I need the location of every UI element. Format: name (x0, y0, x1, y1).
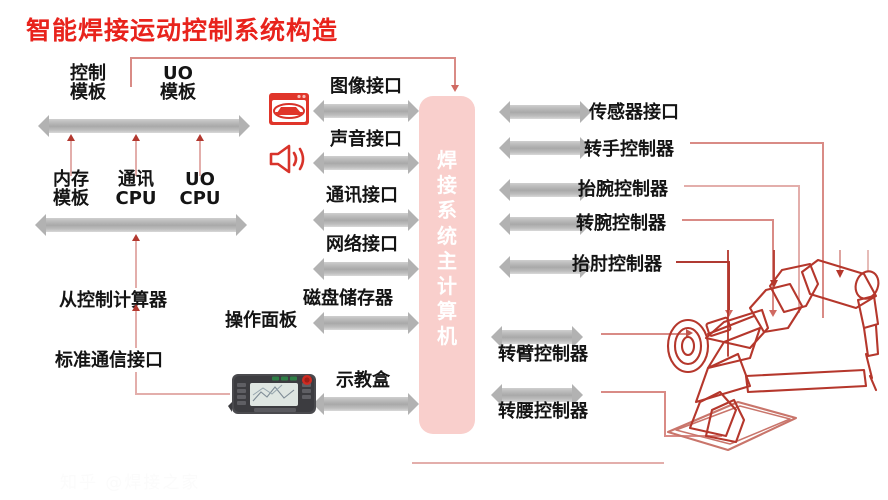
waist-rotate-arrow (502, 388, 572, 402)
monitor-image-icon (268, 92, 310, 126)
cpu-bus-arrowhead-right-icon (236, 214, 247, 236)
standard-interface-label: 标准通信接口 (55, 351, 163, 370)
disk-arrowhead-left-icon (313, 312, 324, 334)
uo-board-label: UO 模板 (142, 64, 214, 103)
wrist-rotate-arrowhead-left-icon (499, 213, 510, 235)
disk-storage-arrow (324, 316, 408, 330)
uo-board-line1: UO (142, 64, 214, 83)
sensor-interface-arrow (510, 105, 580, 119)
elbow-lift-label: 抬肘控制器 (572, 255, 662, 274)
uo-board-line2: 模板 (142, 83, 214, 102)
comm-cpu-label: 通讯 CPU (100, 170, 172, 209)
image-interface-label: 图像接口 (330, 77, 402, 96)
riser-comm-cpu-arrowhead-icon (132, 134, 140, 141)
uo-cpu-label: UO CPU (164, 170, 236, 209)
memory-board-line2: 模板 (35, 189, 107, 208)
main-computer-box: 焊接系统主计算机 (419, 96, 475, 434)
control-board-label: 控制 模板 (52, 64, 124, 103)
control-board-line2: 模板 (52, 83, 124, 102)
sound-arrowhead-left-icon (313, 152, 324, 174)
pendant-arrowhead-right-icon (408, 393, 419, 415)
operation-panel-label: 操作面板 (225, 311, 297, 330)
cpu-bus-arrowhead-left-icon (35, 214, 46, 236)
riser-standard-interface (135, 310, 137, 348)
hand-rotate-arrowhead-left-icon (499, 137, 510, 159)
wrist-lift-connector-h (684, 185, 800, 187)
hand-rotate-arrow (510, 141, 580, 155)
teach-pendant-icon (228, 368, 320, 422)
elbow-lift-arrow (510, 260, 580, 274)
wrist-rotate-arrow (510, 217, 580, 231)
control-board-line1: 控制 (52, 64, 124, 83)
sensor-interface-label: 传感器接口 (589, 103, 679, 122)
bus-arrowhead-right-icon (239, 115, 250, 137)
riser-uo-cpu-arrowhead-icon (196, 134, 204, 141)
network-interface-label: 网络接口 (326, 235, 398, 254)
riser-memory-arrowhead-icon (67, 134, 75, 141)
image-arrowhead-right-icon (408, 100, 419, 122)
comm-arrowhead-right-icon (408, 209, 419, 231)
sound-arrowhead-right-icon (408, 152, 419, 174)
uo-cpu-line1: UO (164, 170, 236, 189)
image-interface-arrow (324, 104, 408, 118)
pendant-connector-horizontal (135, 393, 230, 395)
hand-rotate-label: 转手控制器 (584, 140, 674, 159)
sensor-arrowhead-left-icon (499, 101, 510, 123)
watermark: 知乎 @焊接之家 (60, 468, 200, 493)
sub-computer-label: 从控制计算器 (59, 291, 167, 310)
comm-cpu-line2: CPU (100, 189, 172, 208)
riser-sub-computer (135, 240, 137, 288)
wrist-rotate-label: 转腕控制器 (576, 214, 666, 233)
comm-cpu-line1: 通讯 (100, 170, 172, 189)
top-connector-arrowhead-icon (451, 85, 459, 92)
arm-rotate-label: 转臂控制器 (498, 345, 588, 364)
wrist-lift-arrow (510, 183, 580, 197)
teach-pendant-label: 示教盒 (336, 371, 390, 390)
bus-arrowhead-left-icon (38, 115, 49, 137)
disk-storage-label: 磁盘储存器 (303, 289, 393, 308)
teach-pendant-arrow (324, 397, 408, 411)
disk-arrowhead-right-icon (408, 312, 419, 334)
base-long-connector (412, 462, 664, 464)
memory-board-line1: 内存 (35, 170, 107, 189)
sound-interface-label: 声音接口 (330, 130, 402, 149)
arm-rotate-arrow (502, 330, 572, 344)
memory-board-label: 内存 模板 (35, 170, 107, 209)
riser-sub-computer-arrowhead-icon (132, 234, 140, 241)
network-interface-arrow (324, 262, 408, 276)
welding-robot-arm-illustration (650, 250, 888, 455)
wrist-rotate-connector-h (682, 219, 774, 221)
diagram-canvas: 智能焊接运动控制系统构造 控制 模板 UO 模板 内存 模板 通讯 CPU UO… (0, 0, 888, 500)
page-title: 智能焊接运动控制系统构造 (26, 11, 338, 47)
waist-rotate-label: 转腰控制器 (498, 402, 588, 421)
riser-standard-interface-arrowhead-icon (132, 304, 140, 311)
network-arrowhead-right-icon (408, 258, 419, 280)
comm-interface-arrow (324, 213, 408, 227)
comm-arrowhead-left-icon (313, 209, 324, 231)
hand-rotate-connector-h (690, 142, 824, 144)
wrist-lift-arrowhead-left-icon (499, 179, 510, 201)
top-connector-horizontal (130, 57, 455, 59)
wrist-lift-label: 抬腕控制器 (578, 180, 668, 199)
comm-interface-label: 通讯接口 (326, 186, 398, 205)
speaker-icon (268, 143, 310, 175)
top-connector-vertical-right (454, 57, 456, 85)
cpu-bus-arrow (46, 218, 236, 232)
network-arrowhead-left-icon (313, 258, 324, 280)
uo-cpu-line2: CPU (164, 189, 236, 208)
board-bus-arrow (49, 119, 239, 133)
sound-interface-arrow (324, 156, 408, 170)
elbow-lift-arrowhead-left-icon (499, 256, 510, 278)
image-arrowhead-left-icon (313, 100, 324, 122)
pendant-connector-vertical (135, 372, 137, 394)
main-computer-label: 焊接系统主计算机 (419, 148, 475, 350)
top-connector-vertical-left (130, 57, 132, 87)
